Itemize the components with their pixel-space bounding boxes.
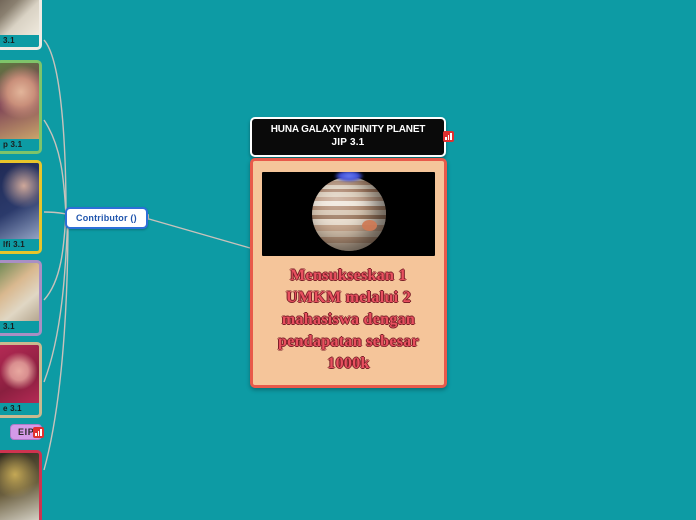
jupiter-planet-photo [262,172,435,256]
list-item[interactable]: 3.1 [0,0,42,50]
list-item[interactable]: e 3.1 [0,342,42,418]
list-item-label: 3.1 [0,35,39,48]
list-item[interactable]: 3.1 [0,260,42,336]
content-card-text: Mensukseskan 1 UMKM melalui 2 mahasiswa … [262,265,435,375]
list-item-label: p 3.1 [0,139,39,152]
contributor-node-label: Contributor () [76,213,137,223]
contributor-node[interactable]: Contributor () [65,207,148,229]
list-item[interactable] [0,450,42,520]
bar-chart-badge-icon[interactable] [443,131,454,142]
page-title[interactable]: HUNA GALAXY INFINITY PLANET JIP 3.1 [250,117,446,157]
list-item[interactable]: lfi 3.1 [0,160,42,254]
list-item[interactable]: p 3.1 [0,60,42,154]
person-photo-5 [0,345,39,403]
list-item-label: 3.1 [0,321,39,334]
contributor-to-card-link [142,217,250,248]
person-photo-4 [0,263,39,321]
content-card[interactable]: Mensukseskan 1 UMKM melalui 2 mahasiswa … [250,158,447,388]
person-photo-1 [0,0,39,35]
person-photo-3 [0,163,39,239]
list-item-label: e 3.1 [0,403,39,416]
list-item-label: lfi 3.1 [0,239,39,252]
bar-chart-badge-icon[interactable] [33,427,44,438]
eip-node-label: EIP [18,427,34,437]
person-photo-6 [0,453,39,520]
title-line-1: HUNA GALAXY INFINITY PLANET [258,124,438,136]
mindmap-canvas[interactable]: 3.1 p 3.1 lfi 3.1 3.1 e 3.1 Contributor … [0,0,696,520]
title-line-2: JIP 3.1 [258,136,438,149]
person-photo-2 [0,63,39,139]
